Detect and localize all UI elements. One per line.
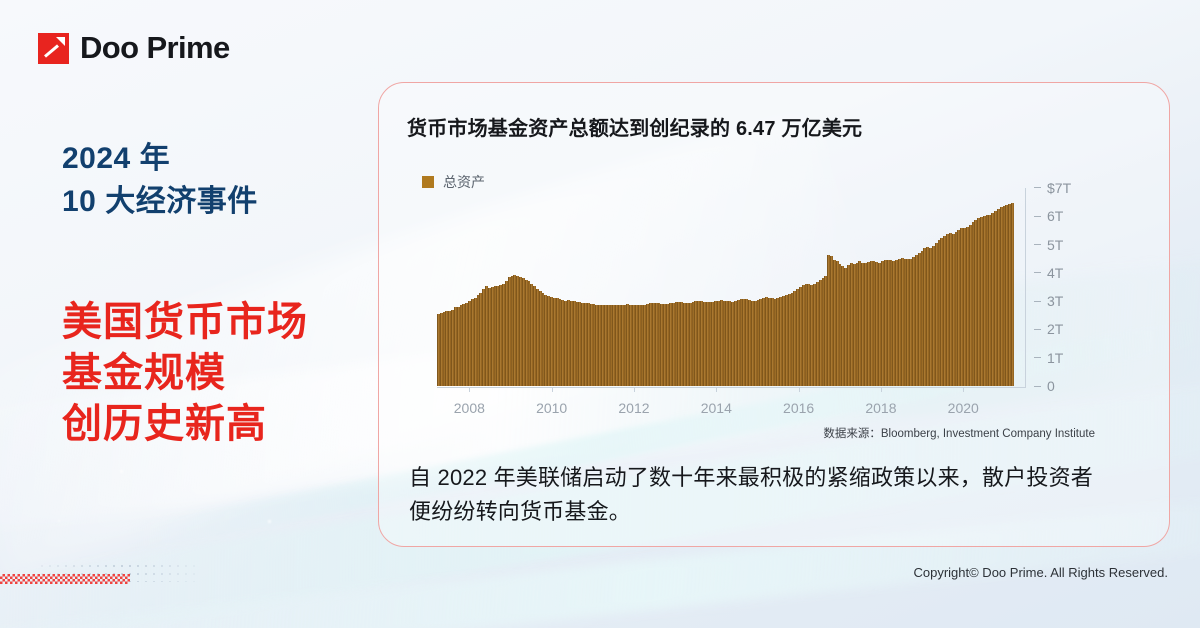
page-title-line2: 基金规模 xyxy=(62,348,308,399)
copyright-text: Copyright© Doo Prime. All Rights Reserve… xyxy=(913,565,1168,580)
chart-x-tick-label: 2014 xyxy=(701,400,732,416)
chart-bar xyxy=(1011,203,1014,386)
chart-bars xyxy=(437,178,1013,386)
chart-x-tick-mark xyxy=(799,387,800,392)
series-kicker: 2024 年 10 大经济事件 xyxy=(62,138,258,223)
chart-y-tick-mark xyxy=(1034,187,1041,188)
chart-y-tick-label: 3T xyxy=(1047,293,1063,309)
chart-y-tick: $7T xyxy=(1034,180,1071,196)
chart-y-tick: 2T xyxy=(1034,321,1063,337)
chart-x-axis-labels: 2008201020122014201620182020 xyxy=(437,394,1025,416)
page-title: 美国货币市场 基金规模 创历史新高 xyxy=(62,297,308,451)
chart-x-tick-label: 2012 xyxy=(618,400,649,416)
chart-x-tick-mark xyxy=(634,387,635,392)
chart-x-tick-label: 2016 xyxy=(783,400,814,416)
chart-y-axis-labels: $7T6T5T4T3T2T1T0 xyxy=(1034,160,1104,396)
chart-x-tick-label: 2018 xyxy=(865,400,896,416)
chart-y-axis-line xyxy=(1025,188,1026,388)
chart-y-tick-label: 2T xyxy=(1047,321,1063,337)
chart-y-tick-mark xyxy=(1034,329,1041,330)
chart-y-tick: 3T xyxy=(1034,293,1063,309)
chart-source-note: 数据来源：Bloomberg, Investment Company Insti… xyxy=(823,425,1095,441)
chart-plot-area xyxy=(437,178,1013,386)
chart-y-tick-mark xyxy=(1034,244,1041,245)
chart-title: 货币市场基金资产总额达到创纪录的 6.47 万亿美元 xyxy=(407,112,862,141)
chart-y-tick-mark xyxy=(1034,386,1041,387)
background-sparkle xyxy=(120,470,123,473)
chart-y-tick-label: 5T xyxy=(1047,237,1063,253)
chart-y-tick-label: $7T xyxy=(1047,180,1071,196)
chart-y-tick: 6T xyxy=(1034,208,1063,224)
chart-y-tick-label: 4T xyxy=(1047,265,1063,281)
poster-root: Doo Prime 2024 年 10 大经济事件 美国货币市场 基金规模 创历… xyxy=(0,0,1200,628)
chart-y-tick-mark xyxy=(1034,301,1041,302)
series-kicker-line1: 2024 年 xyxy=(62,138,258,181)
chart-x-tick-mark xyxy=(469,387,470,392)
chart-y-tick-mark xyxy=(1034,216,1041,217)
series-kicker-line2: 10 大经济事件 xyxy=(62,181,258,224)
chart-x-tick-mark xyxy=(552,387,553,392)
chart-x-tick-label: 2010 xyxy=(536,400,567,416)
chart-y-tick: 1T xyxy=(1034,350,1063,366)
doo-prime-square-logo-icon xyxy=(38,33,69,64)
chart-x-axis-line xyxy=(437,387,1025,388)
chart-y-tick-label: 1T xyxy=(1047,350,1063,366)
page-title-line1: 美国货币市场 xyxy=(62,297,308,348)
chart-x-tick-mark xyxy=(716,387,717,392)
legend-swatch-icon xyxy=(422,176,434,188)
decorative-red-halftone-bar xyxy=(0,574,130,584)
chart-y-tick-mark xyxy=(1034,272,1041,273)
chart-x-tick-label: 2020 xyxy=(948,400,979,416)
card-caption: 自 2022 年美联储启动了数十年来最积极的紧缩政策以来，散户投资者便纷纷转向货… xyxy=(409,461,1109,529)
background-sparkle xyxy=(58,520,60,522)
chart-y-tick-label: 6T xyxy=(1047,208,1063,224)
background-sparkle xyxy=(268,520,271,523)
chart-y-tick: 0 xyxy=(1034,378,1055,394)
chart-y-tick: 5T xyxy=(1034,237,1063,253)
page-title-line3: 创历史新高 xyxy=(62,399,308,450)
brand-logo[interactable]: Doo Prime xyxy=(38,30,230,66)
chart-x-tick-mark xyxy=(963,387,964,392)
chart-y-tick: 4T xyxy=(1034,265,1063,281)
chart-y-tick-label: 0 xyxy=(1047,378,1055,394)
chart-x-tick-mark xyxy=(881,387,882,392)
brand-logo-text: Doo Prime xyxy=(80,30,230,66)
chart-y-tick-mark xyxy=(1034,357,1041,358)
chart-x-tick-label: 2008 xyxy=(454,400,485,416)
